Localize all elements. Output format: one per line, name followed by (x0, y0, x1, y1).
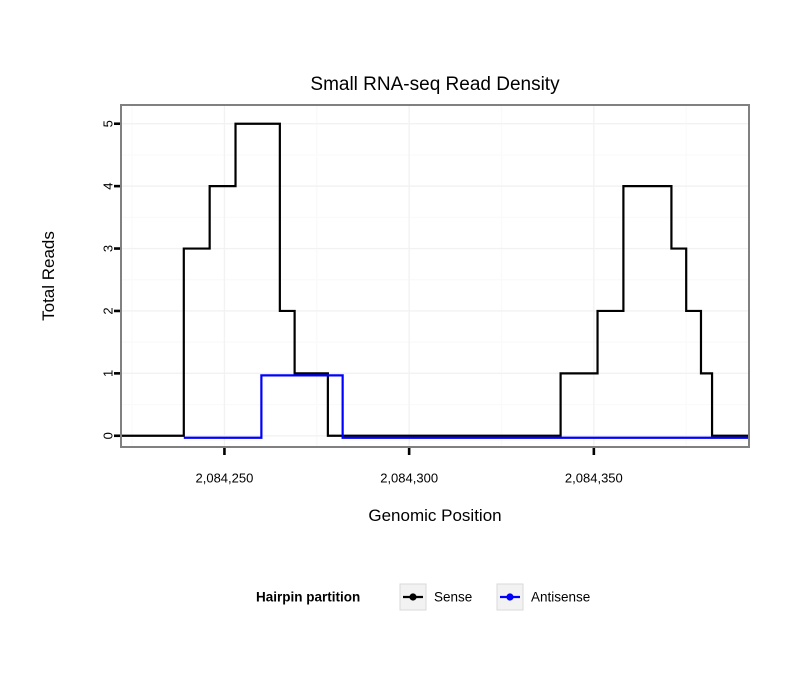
legend-key-point (506, 593, 513, 600)
read-density-chart: Small RNA-seq Read Density Total Reads G… (0, 0, 810, 690)
x-tick-label: 2,084,250 (196, 471, 254, 486)
y-tick-label: 1 (101, 370, 116, 377)
plot-panel-background (121, 105, 749, 447)
y-tick-label: 2 (101, 307, 116, 314)
legend-item-label: Antisense (531, 590, 590, 605)
y-tick-label: 0 (101, 432, 116, 439)
legend-key-point (409, 593, 416, 600)
y-tick-label: 5 (101, 120, 116, 127)
chart-container: Small RNA-seq Read Density Total Reads G… (0, 0, 810, 690)
legend-title: Hairpin partition (256, 590, 360, 605)
x-axis-title: Genomic Position (368, 506, 501, 525)
x-tick-label: 2,084,350 (565, 471, 623, 486)
x-tick-label: 2,084,300 (380, 471, 438, 486)
y-axis-title: Total Reads (39, 231, 58, 321)
y-tick-label: 4 (101, 183, 116, 190)
y-tick-label: 3 (101, 245, 116, 252)
chart-title: Small RNA-seq Read Density (310, 74, 560, 95)
legend-item-label: Sense (434, 590, 472, 605)
